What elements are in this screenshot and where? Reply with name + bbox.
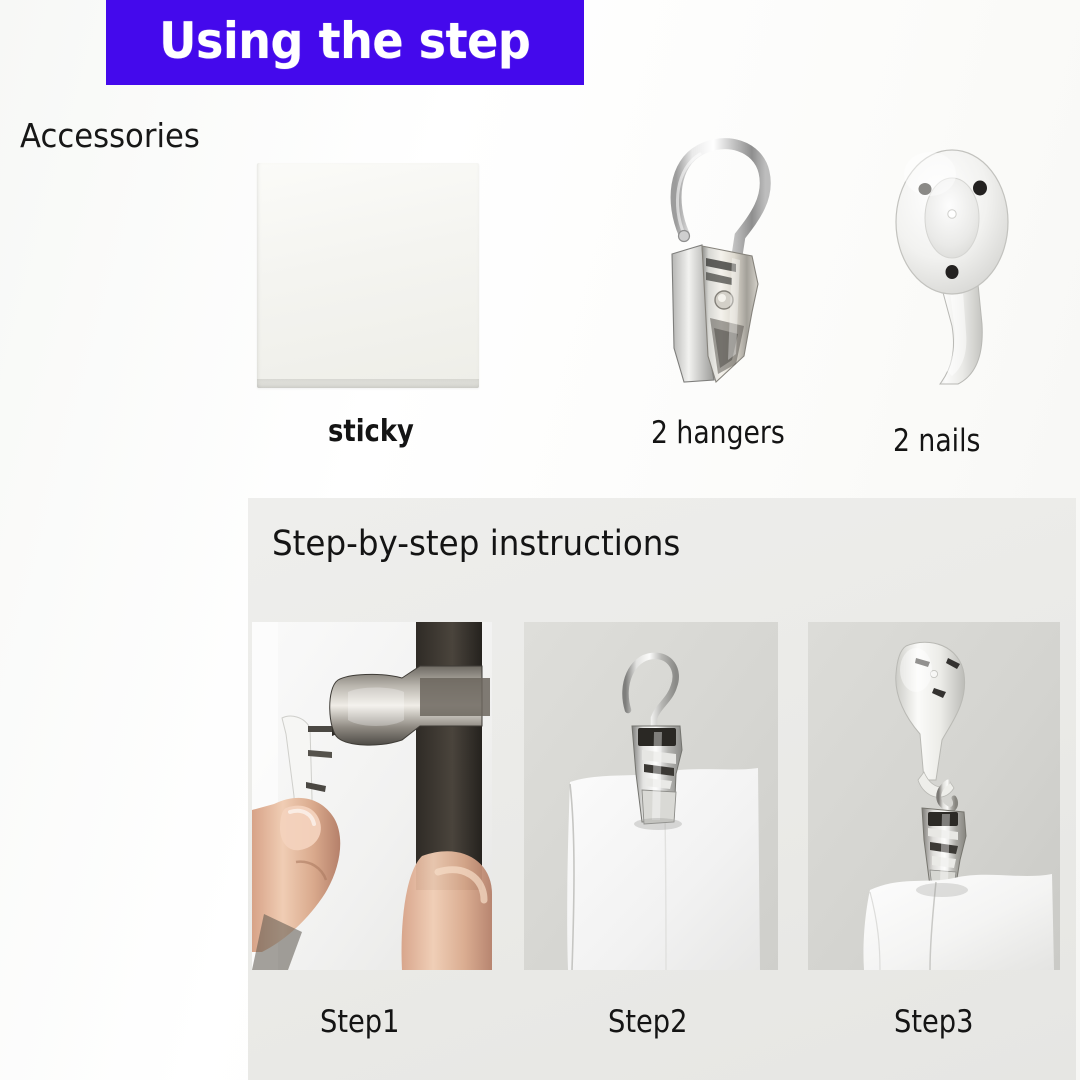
page-title: Using the step [159,16,530,70]
adhesive-pad-image [257,163,479,388]
step-3-caption: Step3 [894,1004,973,1040]
accessory-caption-nails: 2 nails [893,423,980,459]
instructions-heading: Step-by-step instructions [272,524,680,564]
step-2-caption: Step2 [608,1004,687,1040]
wall-hook-nail-image [878,126,1028,391]
accessory-caption-sticky: sticky [328,414,414,449]
clip-hanger-image [640,106,800,391]
accessory-caption-hangers: 2 hangers [651,415,785,451]
infographic-page: Using the step Accessories sticky [0,0,1080,1080]
step-3-photo [808,622,1060,970]
step-1-caption: Step1 [320,1004,399,1040]
step-2-photo [524,622,778,970]
accessories-heading: Accessories [20,116,200,155]
step-1-photo [252,622,492,970]
title-banner: Using the step [106,0,584,85]
